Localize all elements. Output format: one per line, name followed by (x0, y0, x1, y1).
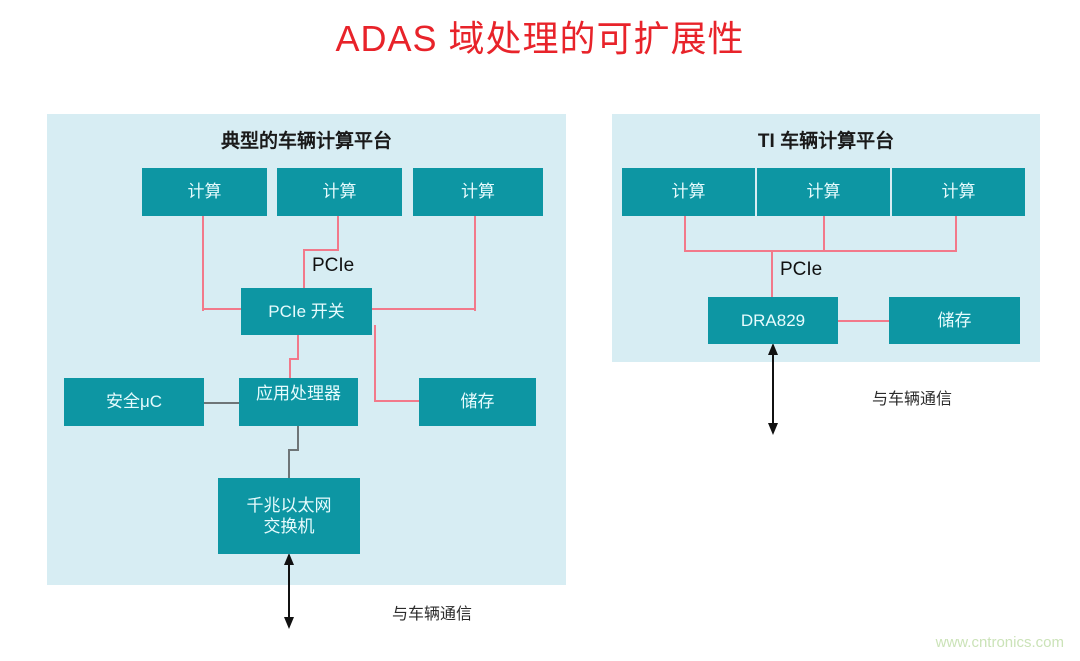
box-label: 计算 (323, 181, 357, 202)
box-compute-3[interactable]: 计算 (413, 168, 543, 216)
wire-right-compute2-drop (823, 216, 825, 252)
box-compute-1[interactable]: 计算 (142, 168, 267, 216)
wire-left-compute2-jog (303, 249, 339, 251)
panel-ti-platform-title: TI 车辆计算平台 (612, 126, 1040, 153)
caption-vehicle-comm-right: 与车辆通信 (872, 385, 952, 409)
box-label: 计算 (672, 181, 706, 202)
box-label: PCIe 开关 (268, 301, 345, 322)
caption-vehicle-comm-left: 与车辆通信 (392, 600, 472, 624)
slide-canvas: ADAS 域处理的可扩展性 典型的车辆计算平台 计算 计算 计算 PCIe PC… (0, 0, 1080, 661)
wire-right-bus (684, 250, 957, 252)
box-ti-compute-1[interactable]: 计算 (622, 168, 755, 216)
box-label: 储存 (938, 310, 972, 331)
box-label-line1: 千兆以太网 (247, 495, 332, 516)
arrow-vehicle-comm-right (765, 343, 781, 435)
page-title: ADAS 域处理的可扩展性 (0, 10, 1080, 62)
wire-left-switch-to-ap-3 (289, 358, 291, 380)
wire-right-compute1-drop (684, 216, 686, 252)
wire-left-switch-to-storage-h (374, 400, 420, 402)
arrow-vehicle-comm-left (281, 553, 297, 629)
box-ti-compute-3[interactable]: 计算 (892, 168, 1025, 216)
wire-left-ap-to-gbe-1 (297, 426, 299, 450)
box-pcie-switch[interactable]: PCIe 开关 (241, 288, 372, 335)
wire-left-compute3-run (370, 308, 476, 310)
label-pcie-right: PCIe (780, 259, 822, 281)
wire-left-compute2-drop (337, 216, 339, 251)
box-label: 计算 (188, 181, 222, 202)
wire-left-ap-to-gbe-3 (288, 449, 290, 479)
wire-left-switch-to-storage-v (374, 325, 376, 401)
wire-right-compute3-drop (955, 216, 957, 252)
wire-left-compute1-drop (202, 216, 204, 311)
label-pcie-left: PCIe (312, 255, 354, 277)
wire-right-bus-to-dra829 (771, 250, 773, 297)
box-storage-left[interactable]: 储存 (419, 378, 536, 426)
panel-typical-platform-title: 典型的车辆计算平台 (47, 126, 566, 153)
box-application-processor[interactable]: 应用处理器 (239, 378, 358, 426)
box-gigabit-ethernet-switch[interactable]: 千兆以太网 交换机 (218, 478, 360, 554)
box-label: DRA829 (741, 310, 805, 331)
box-storage-right[interactable]: 储存 (889, 297, 1020, 344)
box-ti-compute-2[interactable]: 计算 (757, 168, 890, 216)
box-label: 应用处理器 (256, 383, 341, 404)
wire-left-switch-to-ap-1 (297, 335, 299, 359)
wire-left-compute1-run (202, 308, 246, 310)
box-label: 计算 (942, 181, 976, 202)
wire-left-compute3-drop (474, 216, 476, 311)
box-label: 计算 (807, 181, 841, 202)
box-dra829[interactable]: DRA829 (708, 297, 838, 344)
box-safety-mcu[interactable]: 安全μC (64, 378, 204, 426)
watermark: www.cntronics.com (936, 634, 1064, 651)
box-label: 安全μC (106, 391, 162, 412)
wire-left-mcu-to-ap (204, 402, 240, 404)
box-label-line2: 交换机 (264, 516, 315, 537)
box-label: 储存 (461, 391, 495, 412)
wire-right-dra829-to-storage (836, 320, 890, 322)
box-compute-2[interactable]: 计算 (277, 168, 402, 216)
box-label: 计算 (461, 181, 495, 202)
